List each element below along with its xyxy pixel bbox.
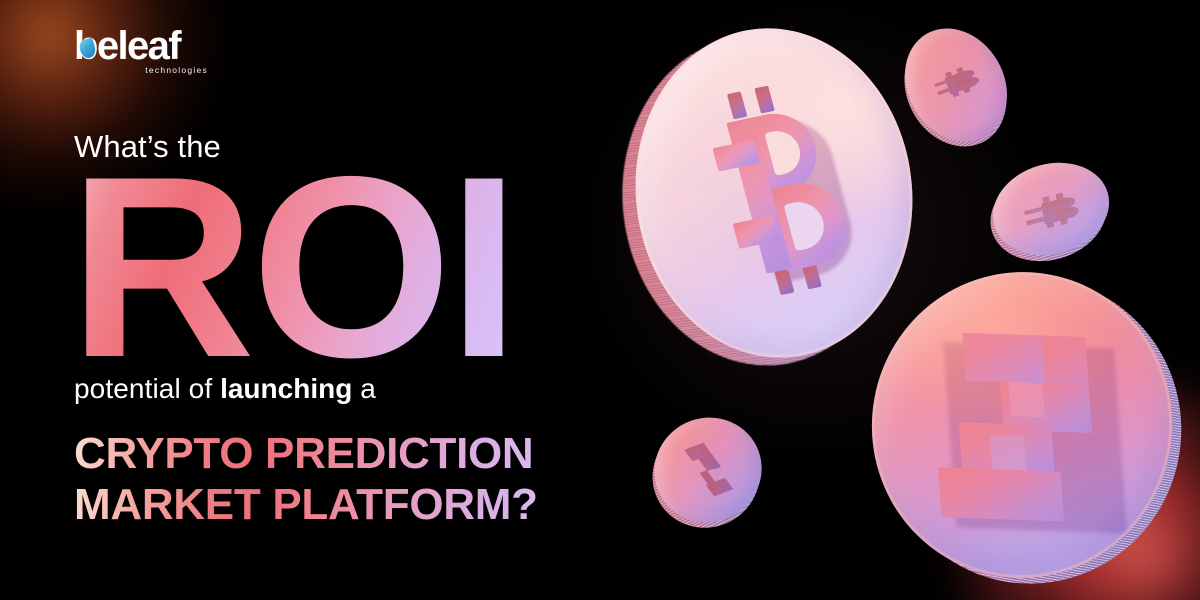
hero-word-wrap: ROI <box>74 172 634 368</box>
coin-face <box>982 149 1120 268</box>
token-coin-small <box>637 400 780 541</box>
coin-face <box>637 400 780 541</box>
emphasis-line-1: CRYPTO PREDICTION <box>74 428 634 479</box>
promo-banner: beleaf technologies What’s the ROI poten… <box>0 0 1200 600</box>
coin-sheen <box>637 400 780 541</box>
coin-sheen <box>982 149 1120 268</box>
brand-logo[interactable]: beleaf technologies <box>74 26 209 74</box>
token-coin-large <box>848 248 1197 600</box>
emphasis-line-2: MARKET PLATFORM? <box>74 479 634 530</box>
coin-rim-light <box>617 12 931 373</box>
coin-rim-light <box>848 248 1197 600</box>
headline-block: What’s the ROI potential of launching a … <box>74 128 634 530</box>
bitcoin-coin-small-mid <box>982 149 1120 268</box>
logo-tagline: technologies <box>145 66 208 75</box>
hero-word-roi: ROI <box>69 138 516 396</box>
bitcoin-coin-large <box>617 12 931 373</box>
